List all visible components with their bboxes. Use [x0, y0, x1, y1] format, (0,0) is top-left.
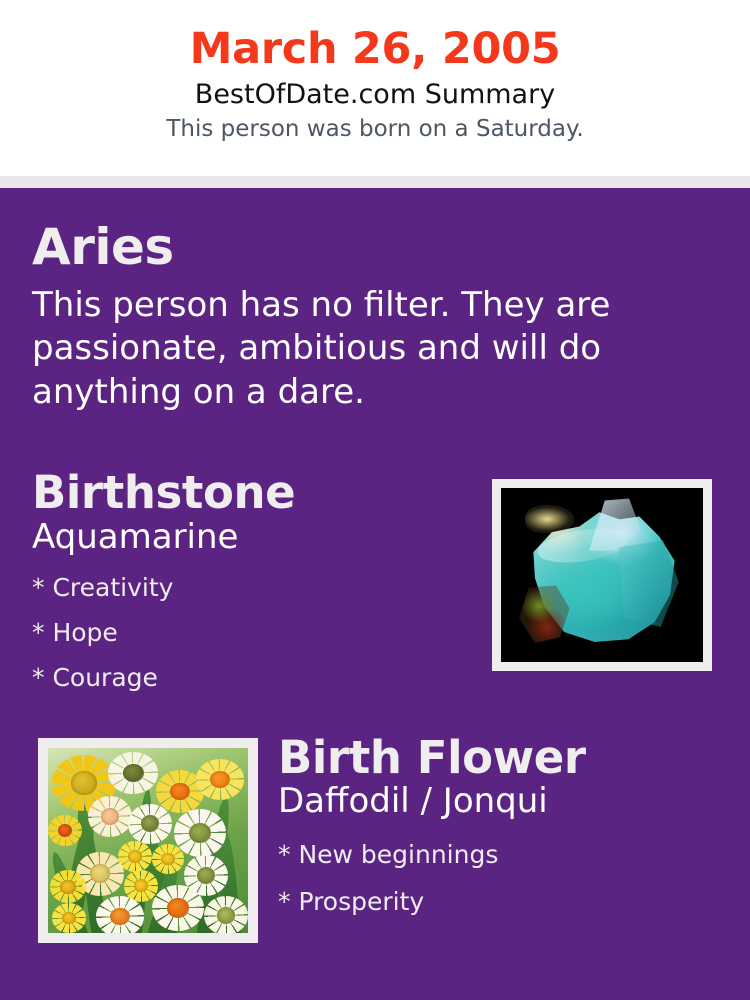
daffodil-bloom-icon: [204, 896, 248, 933]
birthflower-trait-list: * New beginnings * Prosperity: [278, 832, 718, 925]
zodiac-section: Aries This person has no filter. They ar…: [32, 221, 692, 414]
birthstone-name: Aquamarine: [32, 518, 472, 557]
zodiac-description: This person has no filter. They are pass…: [32, 284, 647, 415]
crystal-inclusion-icon: [525, 505, 573, 533]
born-day-label: This person was born on a Saturday.: [0, 115, 750, 144]
birthflower-section: Birth Flower Daffodil / Jonqui * New beg…: [278, 734, 718, 925]
daffodil-bloom-icon: [96, 896, 144, 933]
birthstone-image-frame: [492, 479, 712, 671]
daffodil-bloom-icon: [128, 804, 172, 845]
site-summary-label: BestOfDate.com Summary: [0, 78, 750, 112]
birthstone-trait-list: * Creativity * Hope * Courage: [32, 565, 472, 700]
zodiac-sign-name: Aries: [32, 221, 692, 274]
daffodil-bloom-icon: [152, 844, 184, 874]
page-title: March 26, 2005: [0, 26, 750, 72]
birthstone-section: Birthstone Aquamarine * Creativity * Hop…: [32, 469, 472, 700]
list-item: * Courage: [32, 655, 472, 700]
daffodil-bloom-icon: [174, 809, 226, 857]
infographic-page: March 26, 2005 BestOfDate.com Summary Th…: [0, 0, 750, 1000]
birthflower-name: Daffodil / Jonqui: [278, 782, 718, 821]
daffodil-bloom-icon: [52, 903, 86, 933]
daffodil-field-image: [48, 748, 248, 933]
content-panel: Aries This person has no filter. They ar…: [0, 188, 750, 1000]
daffodil-bloom-icon: [48, 815, 82, 846]
page-header: March 26, 2005 BestOfDate.com Summary Th…: [0, 0, 750, 176]
list-item: * Hope: [32, 610, 472, 655]
daffodil-bloom-icon: [196, 759, 244, 800]
daffodil-bloom-icon: [108, 752, 158, 795]
daffodil-bloom-icon: [88, 796, 132, 837]
list-item: * New beginnings: [278, 832, 718, 878]
list-item: * Prosperity: [278, 879, 718, 925]
birthflower-heading: Birth Flower: [278, 734, 718, 782]
birthstone-heading: Birthstone: [32, 469, 472, 517]
birthflower-image-frame: [38, 738, 258, 943]
aquamarine-crystal-image: [501, 488, 703, 662]
daffodil-bloom-icon: [152, 885, 204, 931]
header-divider: [0, 176, 750, 188]
list-item: * Creativity: [32, 565, 472, 610]
